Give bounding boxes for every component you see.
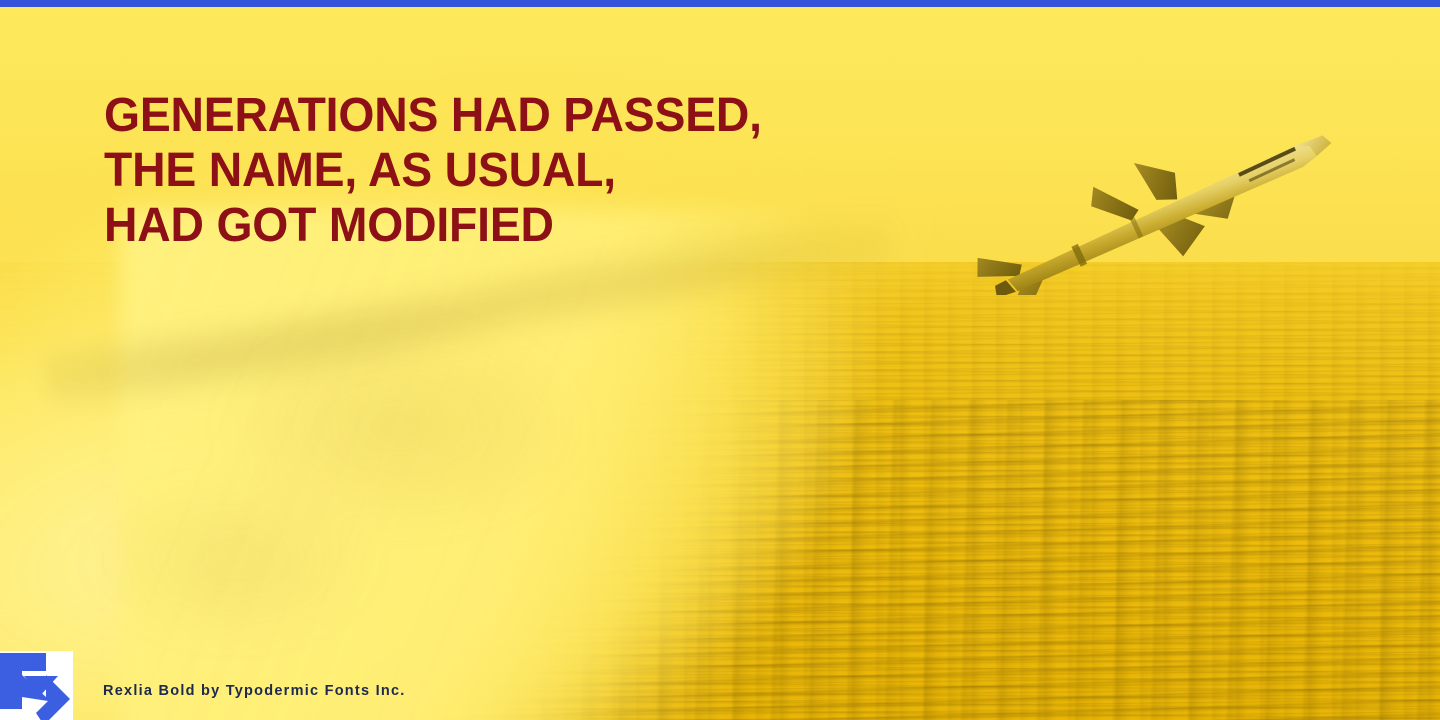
headline-line-2: THE NAME, AS USUAL, [104, 143, 762, 198]
missile-graphic [955, 135, 1355, 295]
font-specimen-banner: GENERATIONS HAD PASSED, THE NAME, AS USU… [0, 0, 1440, 720]
headline: GENERATIONS HAD PASSED, THE NAME, AS USU… [104, 88, 762, 253]
missile-body [996, 141, 1328, 293]
top-accent-bar [0, 0, 1440, 7]
typodermic-logo[interactable] [0, 651, 73, 720]
headline-line-3: HAD GOT MODIFIED [104, 198, 762, 253]
font-credit-text: Rexlia Bold by Typodermic Fonts Inc. [103, 683, 406, 699]
headline-line-1: GENERATIONS HAD PASSED, [104, 88, 762, 143]
